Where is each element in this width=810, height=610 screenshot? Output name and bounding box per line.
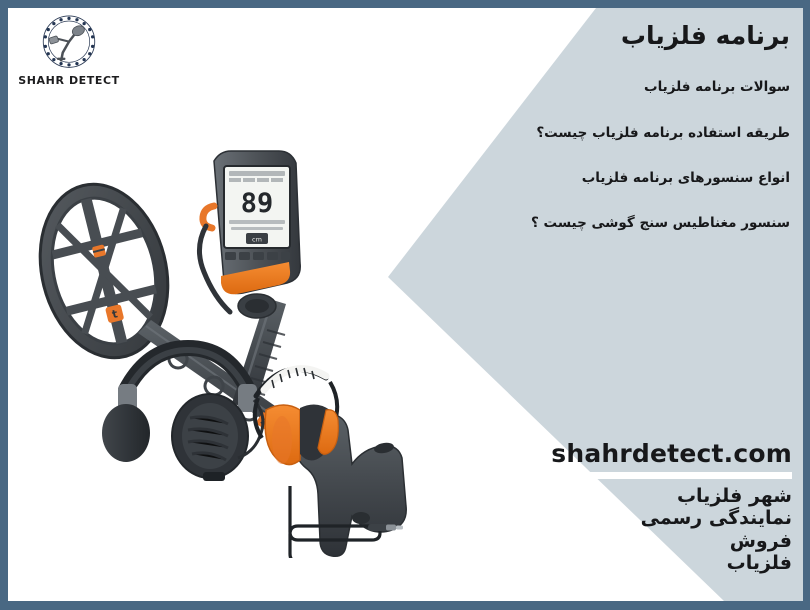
brand-footer: shahrdetect.com شهر فلزیاب نمایندگی رسمی… bbox=[382, 440, 792, 574]
logo-wordmark: SHAHR DETECT bbox=[14, 74, 124, 87]
frame-border-left bbox=[0, 0, 8, 610]
orange-headphones bbox=[255, 368, 339, 465]
website-domain[interactable]: shahrdetect.com bbox=[382, 440, 792, 469]
product-illustration: t SHAHR bbox=[18, 128, 418, 558]
brand-tagline: شهر فلزیاب نمایندگی رسمی فروش فلزیاب bbox=[382, 485, 792, 575]
headline-and-questions: برنامه فلزیاب سوالات برنامه فلزیاب طریقه… bbox=[370, 16, 790, 233]
question-item-1[interactable]: سوالات برنامه فلزیاب bbox=[370, 77, 790, 97]
question-item-4[interactable]: سنسور مغناطیس سنج گوشی چیست ؟ bbox=[370, 213, 790, 233]
question-item-2[interactable]: طریقه استفاده برنامه فلزیاب چیست؟ bbox=[370, 123, 790, 143]
control-box: 89 cm bbox=[199, 151, 300, 318]
brand-line-2: نمایندگی رسمی bbox=[382, 507, 792, 529]
question-item-3[interactable]: انواع سنسورهای برنامه فلزیاب bbox=[370, 168, 790, 188]
lcd-unit: cm bbox=[252, 236, 262, 244]
lcd-value: 89 bbox=[241, 188, 274, 219]
frame-border-top bbox=[0, 0, 810, 8]
metal-detector-and-headphones-graphic: t SHAHR bbox=[18, 128, 418, 558]
frame-border-bottom bbox=[0, 601, 810, 610]
frame-border-right bbox=[803, 0, 810, 610]
brand-divider bbox=[585, 472, 792, 479]
poster-canvas: SHAHR DETECT bbox=[0, 0, 810, 610]
brand-line-1: شهر فلزیاب bbox=[382, 485, 792, 507]
page-title: برنامه فلزیاب bbox=[370, 20, 790, 51]
brand-logo: SHAHR DETECT bbox=[14, 12, 124, 94]
brand-line-3: فروش bbox=[382, 530, 792, 552]
brand-line-4: فلزیاب bbox=[382, 552, 792, 574]
metal-detector-emblem-icon bbox=[30, 12, 108, 76]
